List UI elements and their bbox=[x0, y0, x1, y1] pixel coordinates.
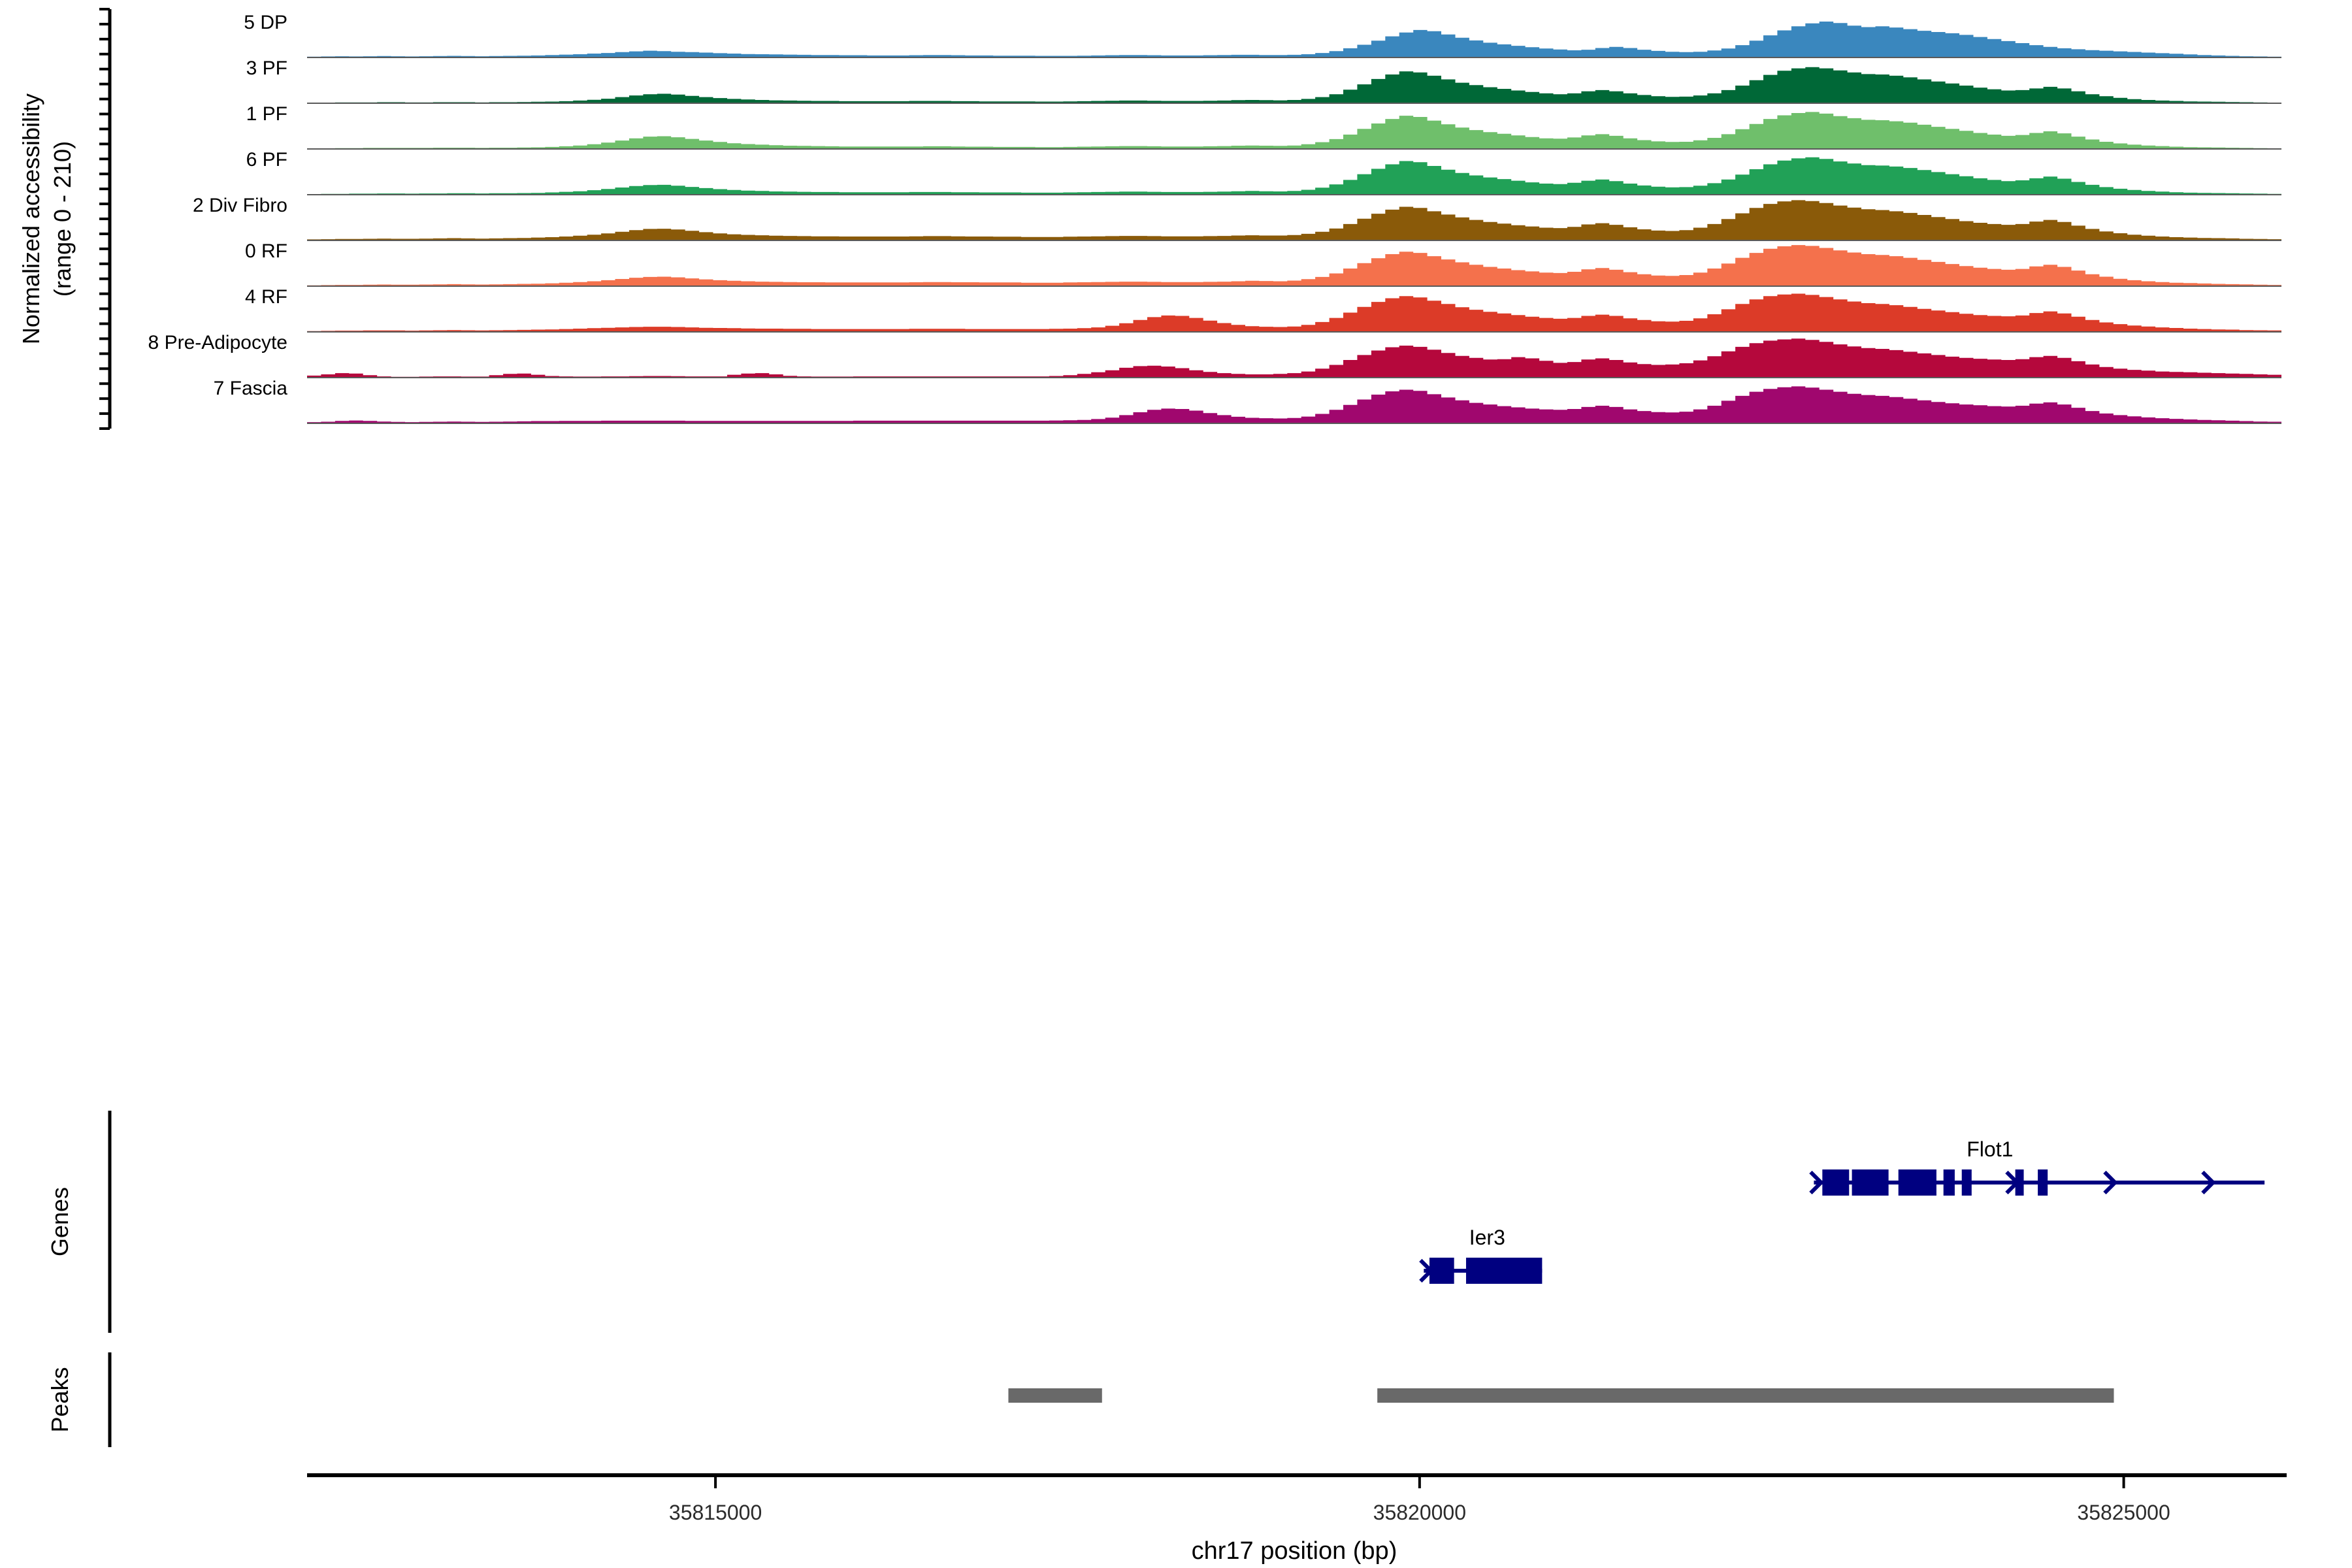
coverage-area bbox=[307, 294, 2281, 333]
track-label-6-pf: 6 PF bbox=[246, 149, 287, 171]
gene-label-ier3: Ier3 bbox=[1469, 1226, 1505, 1249]
gene-exon bbox=[1944, 1169, 1955, 1196]
gene-label-flot1: Flot1 bbox=[1967, 1137, 2013, 1161]
peak-region-1[interactable] bbox=[1008, 1388, 1102, 1403]
gene-exon bbox=[1466, 1258, 1542, 1284]
gene-exon bbox=[1899, 1169, 1936, 1196]
gene-exon bbox=[2038, 1169, 2048, 1196]
gene-ier3[interactable] bbox=[1420, 1258, 1542, 1284]
coverage-track-8-pre-adipocyte bbox=[307, 338, 2281, 378]
track-label-0-rf: 0 RF bbox=[245, 240, 287, 262]
peaks-panel-label: Peaks bbox=[46, 1367, 73, 1432]
coverage-area bbox=[307, 112, 2281, 149]
track-label-5-dp: 5 DP bbox=[244, 12, 287, 33]
track-label-4-rf: 4 RF bbox=[245, 286, 287, 308]
coverage-track-4-rf bbox=[307, 294, 2281, 333]
x-axis-tick-label-0: 35815000 bbox=[669, 1501, 762, 1524]
coverage-area bbox=[307, 245, 2281, 286]
track-label-1-pf: 1 PF bbox=[246, 103, 287, 125]
coverage-area bbox=[307, 157, 2281, 195]
y-axis-label-line2: (range 0 - 210) bbox=[49, 141, 76, 297]
peak-region-2[interactable] bbox=[1377, 1388, 2114, 1403]
track-label-3-pf: 3 PF bbox=[246, 57, 287, 79]
coverage-area bbox=[307, 67, 2281, 103]
track-label-8-pre-adipocyte: 8 Pre-Adipocyte bbox=[148, 332, 287, 353]
gene-exon bbox=[2016, 1169, 2024, 1196]
coverage-track-1-pf bbox=[307, 112, 2281, 149]
x-axis-tick-label-2: 35825000 bbox=[2077, 1501, 2170, 1524]
coverage-track-5-dp bbox=[307, 22, 2281, 57]
coverage-track-2-div-fibro bbox=[307, 200, 2281, 240]
coverage-track-0-rf bbox=[307, 245, 2281, 286]
coverage-track-6-pf bbox=[307, 157, 2281, 195]
coverage-track-7-fascia bbox=[307, 386, 2281, 423]
track-label-7-fascia: 7 Fascia bbox=[214, 378, 288, 399]
coverage-track-3-pf bbox=[307, 67, 2281, 103]
coverage-area bbox=[307, 386, 2281, 423]
gene-exon bbox=[1822, 1169, 1849, 1196]
coverage-area bbox=[307, 338, 2281, 378]
x-axis-label: chr17 position (bp) bbox=[1192, 1537, 1397, 1565]
gene-exon bbox=[1429, 1258, 1454, 1284]
track-label-2-div-fibro: 2 Div Fibro bbox=[193, 195, 287, 216]
genome-browser-figure: 5 DP3 PF1 PF6 PF2 Div Fibro0 RF4 RF8 Pre… bbox=[0, 0, 2352, 1568]
figure-canvas: 5 DP3 PF1 PF6 PF2 Div Fibro0 RF4 RF8 Pre… bbox=[0, 0, 2352, 1568]
y-axis-label-line1: Normalized accessibility bbox=[18, 93, 44, 344]
genes-panel-label: Genes bbox=[46, 1187, 73, 1256]
gene-flot1[interactable] bbox=[1810, 1169, 2264, 1196]
coverage-area bbox=[307, 200, 2281, 240]
x-axis-tick-label-1: 35820000 bbox=[1373, 1501, 1466, 1524]
gene-exon bbox=[1962, 1169, 1972, 1196]
coverage-area bbox=[307, 22, 2281, 57]
gene-exon bbox=[1852, 1169, 1889, 1196]
